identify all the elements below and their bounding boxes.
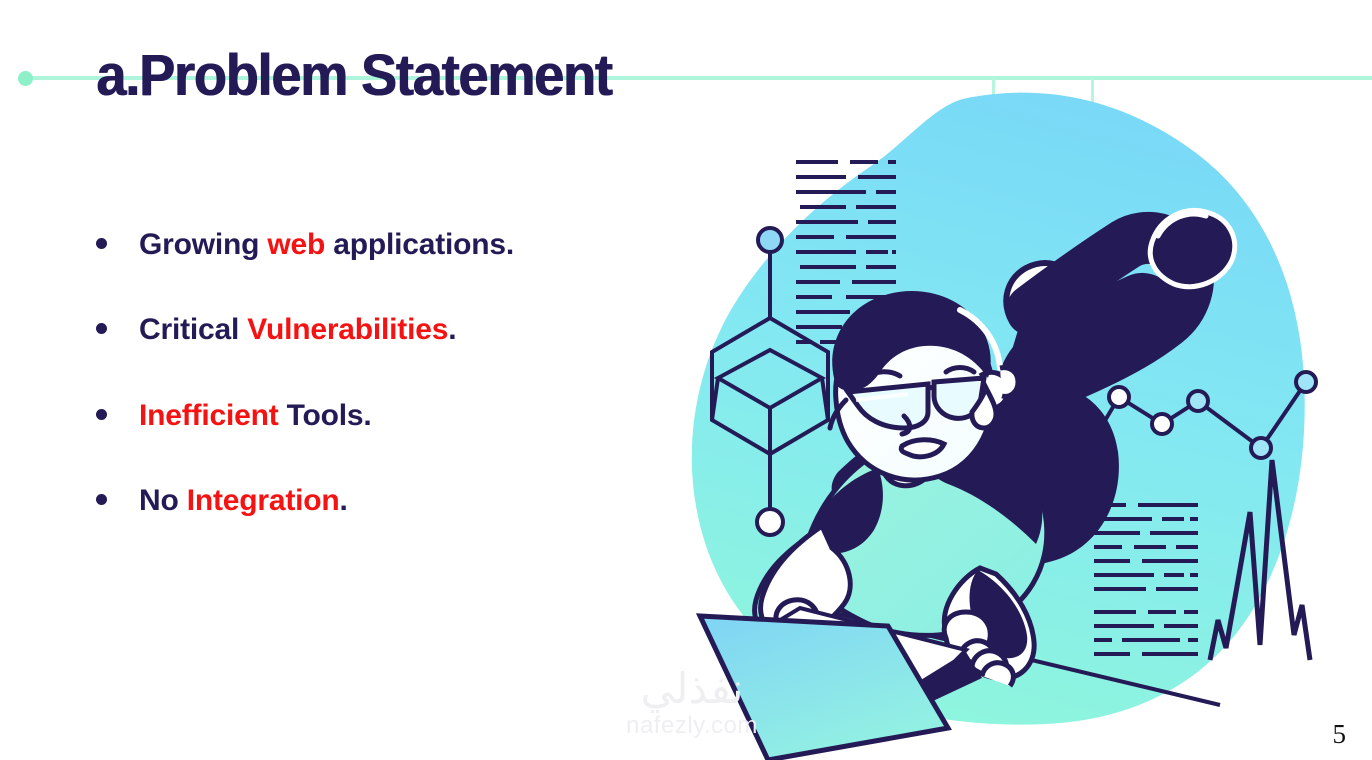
bullet-tail: . (448, 313, 456, 346)
header-accent-dot (18, 71, 33, 86)
page-title: a.Problem Statement (96, 44, 611, 108)
bullet-lead: Growing (139, 228, 267, 261)
list-item: No Integration. (96, 480, 566, 521)
bullet-text: No Integration. (139, 480, 348, 521)
bullet-tail: applications. (325, 228, 514, 261)
list-item: Critical Vulnerabilities. (96, 309, 566, 350)
bullet-tail: . (340, 484, 348, 517)
bullet-dot-icon (96, 409, 107, 420)
list-item: Inefficient Tools. (96, 395, 566, 436)
bullet-text: Critical Vulnerabilities. (139, 309, 456, 350)
bullet-highlight: Integration (187, 484, 340, 517)
falling-developer-illustration (660, 60, 1372, 760)
list-item: Growing web applications. (96, 224, 566, 265)
bullet-dot-icon (96, 323, 107, 334)
page-number: 5 (1333, 719, 1347, 750)
headset-earpiece-icon (1000, 368, 1018, 397)
bullet-text: Inefficient Tools. (139, 395, 372, 436)
bullet-tail: Tools. (278, 399, 371, 432)
slide-canvas: a.Problem Statement Growing web applicat… (0, 0, 1372, 760)
bullet-list: Growing web applications. Critical Vulne… (96, 224, 566, 566)
bullet-dot-icon (96, 494, 107, 505)
bullet-dot-icon (96, 238, 107, 249)
bullet-highlight: Vulnerabilities (247, 313, 448, 346)
bullet-highlight: Inefficient (139, 399, 278, 432)
bullet-lead: No (139, 484, 187, 517)
bullet-text: Growing web applications. (139, 224, 514, 265)
bullet-lead: Critical (139, 313, 247, 346)
person-mouth (901, 440, 944, 457)
bullet-highlight: web (267, 228, 325, 261)
person-shoe-front (1150, 210, 1234, 286)
